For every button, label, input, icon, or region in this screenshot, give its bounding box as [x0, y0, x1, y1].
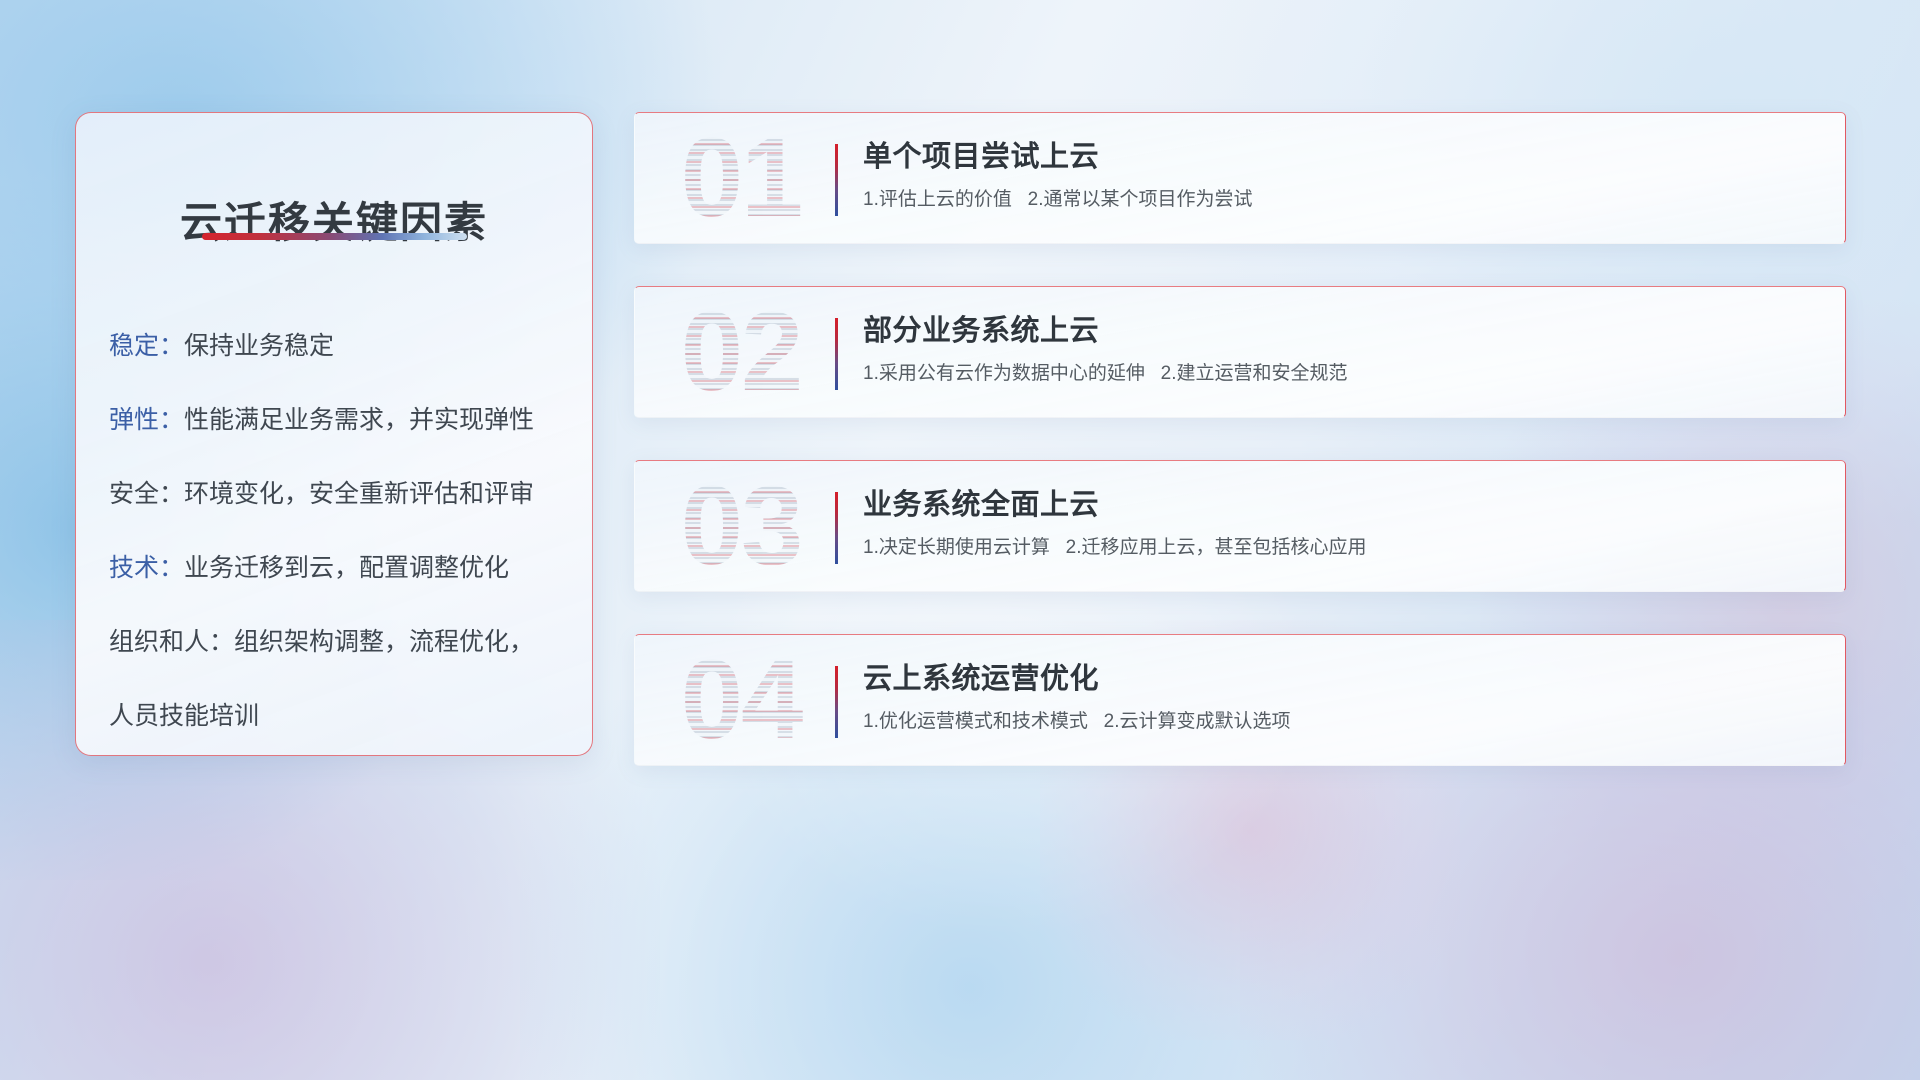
card-divider-bar	[835, 492, 838, 564]
card-description: 1.决定长期使用云计算 2.迁移应用上云，甚至包括核心应用	[863, 531, 1821, 565]
card-title: 单个项目尝试上云	[863, 137, 1821, 177]
list-item: 技术：业务迁移到云，配置调整优化	[109, 531, 572, 605]
factor-text: 业务迁移到云，配置调整优化	[184, 554, 509, 582]
card-body: 单个项目尝试上云 1.评估上云的价值 2.通常以某个项目作为尝试	[863, 137, 1821, 217]
stage-cards-list: 01 01 单个项目尝试上云 1.评估上云的价值 2.通常以某个项目作为尝试 0…	[634, 112, 1846, 766]
card-description: 1.采用公有云作为数据中心的延伸 2.建立运营和安全规范	[863, 357, 1821, 391]
page-title: 云迁移关键因素	[76, 189, 592, 250]
stage-number-01-overlay: 01	[663, 112, 819, 244]
card-title: 云上系统运营优化	[863, 659, 1821, 699]
card-title: 部分业务系统上云	[863, 311, 1821, 351]
card-body: 云上系统运营优化 1.优化运营模式和技术模式 2.云计算变成默认选项	[863, 659, 1821, 739]
stage-number-02-overlay: 02	[663, 286, 819, 418]
stage-card-03[interactable]: 03 03 业务系统全面上云 1.决定长期使用云计算 2.迁移应用上云，甚至包括…	[634, 460, 1846, 592]
card-divider-bar	[835, 144, 838, 216]
stage-card-01[interactable]: 01 01 单个项目尝试上云 1.评估上云的价值 2.通常以某个项目作为尝试	[634, 112, 1846, 244]
stage-card-04[interactable]: 04 04 云上系统运营优化 1.优化运营模式和技术模式 2.云计算变成默认选项	[634, 634, 1846, 766]
stage-number-03-overlay: 03	[663, 460, 819, 592]
factor-label: 技术：	[109, 554, 184, 582]
slide-stage: 云迁移关键因素 稳定：保持业务稳定 弹性：性能满足业务需求，并实现弹性 安全：环…	[0, 0, 1920, 1080]
factor-label: 组织和人：	[109, 628, 234, 656]
key-factors-panel: 云迁移关键因素 稳定：保持业务稳定 弹性：性能满足业务需求，并实现弹性 安全：环…	[75, 112, 593, 756]
factor-text: 组织架构调整，流程优化，	[234, 628, 534, 656]
key-factors-list: 稳定：保持业务稳定 弹性：性能满足业务需求，并实现弹性 安全：环境变化，安全重新…	[109, 309, 572, 753]
card-title: 业务系统全面上云	[863, 485, 1821, 525]
factor-text: 环境变化，安全重新评估和评审	[184, 480, 534, 508]
list-item: 人员技能培训	[109, 679, 572, 753]
factor-text: 保持业务稳定	[184, 332, 334, 360]
list-item: 稳定：保持业务稳定	[109, 309, 572, 383]
factor-label: 安全：	[109, 480, 184, 508]
title-underline-accent	[202, 233, 467, 240]
factor-text: 人员技能培训	[109, 702, 259, 730]
card-body: 部分业务系统上云 1.采用公有云作为数据中心的延伸 2.建立运营和安全规范	[863, 311, 1821, 391]
stage-number-04-overlay: 04	[663, 634, 819, 766]
factor-label: 弹性：	[109, 406, 184, 434]
factor-label: 稳定：	[109, 332, 184, 360]
card-description: 1.优化运营模式和技术模式 2.云计算变成默认选项	[863, 705, 1821, 739]
card-divider-bar	[835, 666, 838, 738]
list-item: 安全：环境变化，安全重新评估和评审	[109, 457, 572, 531]
list-item: 弹性：性能满足业务需求，并实现弹性	[109, 383, 572, 457]
card-divider-bar	[835, 318, 838, 390]
list-item: 组织和人：组织架构调整，流程优化，	[109, 605, 572, 679]
stage-card-02[interactable]: 02 02 部分业务系统上云 1.采用公有云作为数据中心的延伸 2.建立运营和安…	[634, 286, 1846, 418]
card-body: 业务系统全面上云 1.决定长期使用云计算 2.迁移应用上云，甚至包括核心应用	[863, 485, 1821, 565]
factor-text: 性能满足业务需求，并实现弹性	[184, 406, 534, 434]
card-description: 1.评估上云的价值 2.通常以某个项目作为尝试	[863, 183, 1821, 217]
